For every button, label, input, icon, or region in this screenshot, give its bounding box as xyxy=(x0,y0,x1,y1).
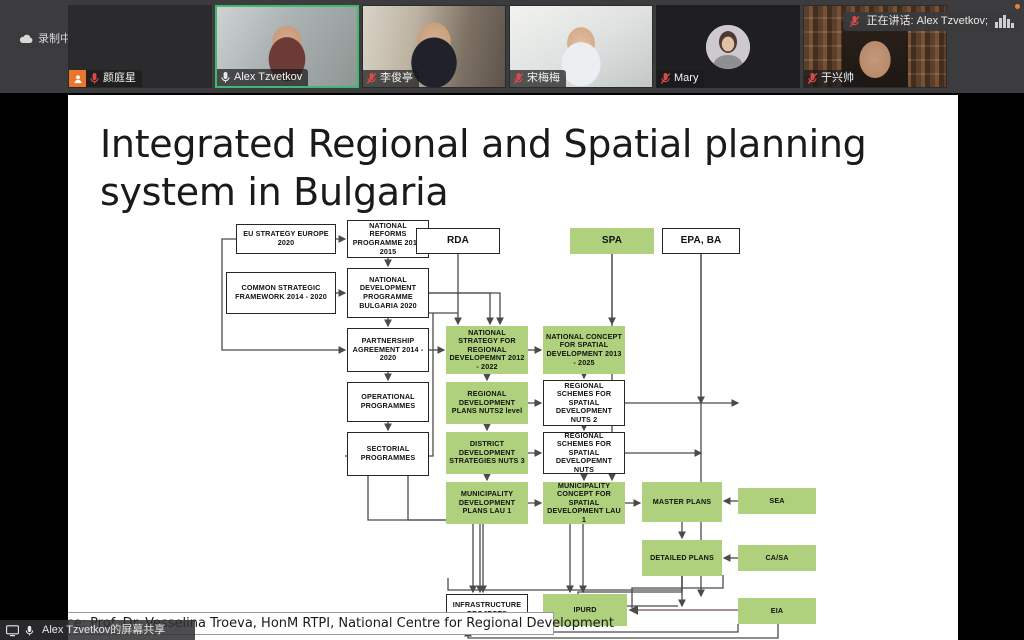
mic-muted-icon xyxy=(366,72,377,85)
active-speaker-label: 正在讲话: Alex Tzvetkov; xyxy=(867,15,988,28)
mic-on-icon xyxy=(220,71,231,84)
mic-muted-icon xyxy=(849,15,860,28)
cloud-record-icon xyxy=(19,34,33,44)
flowchart-node-sp: SECTORIAL PROGRAMMES xyxy=(347,432,429,476)
flowchart-node-eu: EU STRATEGY EUROPE 2020 xyxy=(236,224,336,254)
video-tile-0[interactable]: 颜庭星 xyxy=(68,5,212,88)
participant-name-0: 颜庭星 xyxy=(103,72,136,85)
mic-muted-icon xyxy=(660,72,671,85)
status-dot xyxy=(1015,4,1020,9)
flowchart-node-nsrd: NATIONAL STRATEGY FOR REGIONAL DEVELOPEM… xyxy=(446,326,528,374)
host-badge-icon xyxy=(69,70,86,87)
video-tile-3[interactable]: 宋梅梅 xyxy=(509,5,653,88)
participant-name-3: 宋梅梅 xyxy=(527,72,560,85)
participant-namebar-5: 于兴帅 xyxy=(804,70,860,87)
participant-name-1: Alex Tzvetkov xyxy=(234,71,302,84)
zoom-meeting-window: 录制中 颜庭星 xyxy=(0,0,1024,640)
planning-system-flowchart: EU STRATEGY EUROPE 2020COMMON STRATEGIC … xyxy=(218,220,838,610)
page-title: Integrated Regional and Spatial planning… xyxy=(100,120,900,216)
flowchart-node-rss3: REGIONAL SCHEMES FOR SPATIAL DEVELOPEMNT… xyxy=(543,432,625,474)
participant-filmstrip: 录制中 颜庭星 xyxy=(0,0,1024,93)
flowchart-node-casa: CA/SA xyxy=(738,545,816,571)
flowchart-node-epa: EPA, BA xyxy=(662,228,740,254)
flowchart-node-detailed: DETAILED PLANS xyxy=(642,540,722,576)
active-speaker-toast: 正在讲话: Alex Tzvetkov; xyxy=(843,12,1020,31)
screen-share-label: Alex Tzvetkov的屏幕共享 xyxy=(42,624,165,637)
participant-name-5: 于兴帅 xyxy=(821,72,854,85)
video-tile-4[interactable]: Mary xyxy=(656,5,800,88)
shared-slide: Integrated Regional and Spatial planning… xyxy=(68,95,958,640)
flowchart-node-dds: DISTRICT DEVELOPMENT STRATEGIES NUTS 3 xyxy=(446,432,528,474)
participant-namebar-0: 颜庭星 xyxy=(86,70,142,87)
participant-name-2: 李俊亭 xyxy=(380,72,413,85)
flowchart-node-mdp: MUNICIPALITY DEVELOPMENT PLANS LAU 1 xyxy=(446,482,528,524)
mic-on-icon xyxy=(89,72,100,85)
flowchart-node-rda: RDA xyxy=(416,228,500,254)
flowchart-node-rdp: REGIONAL DEVELOPMENT PLANS NUTS2 level xyxy=(446,382,528,424)
flowchart-node-ndp: NATIONAL DEVELOPMENT PROGRAMME BULGARIA … xyxy=(347,268,429,318)
flowchart-node-eia: EIA xyxy=(738,598,816,624)
left-letterbox xyxy=(0,93,68,640)
mic-on-icon xyxy=(24,624,37,636)
mic-muted-icon xyxy=(513,72,524,85)
right-letterbox xyxy=(958,93,1024,640)
participant-namebar-1: Alex Tzvetkov xyxy=(217,69,308,86)
participant-namebar-3: 宋梅梅 xyxy=(510,70,566,87)
participant-name-4: Mary xyxy=(674,72,698,85)
flowchart-node-pa: PARTNERSHIP AGREEMENT 2014 - 2020 xyxy=(347,328,429,372)
participant-namebar-2: 李俊亭 xyxy=(363,70,419,87)
audio-wave-icon xyxy=(995,15,1014,28)
flowchart-node-mcsd: MUNICIPALITY CONCEPT FOR SPATIAL DEVELOP… xyxy=(543,482,625,524)
flowchart-node-ncsd: NATIONAL CONCEPT FOR SPATIAL DEVELOPMENT… xyxy=(543,326,625,374)
participant-namebar-4: Mary xyxy=(657,70,704,87)
flowchart-node-op: OPERATIONAL PROGRAMMES xyxy=(347,382,429,422)
flowchart-node-spa: SPA xyxy=(570,228,654,254)
video-tile-2[interactable]: 李俊亭 xyxy=(362,5,506,88)
screen-share-bar[interactable]: Alex Tzvetkov的屏幕共享 xyxy=(0,620,195,640)
video-tiles: 颜庭星 Alex Tzvetkov xyxy=(68,5,947,88)
flowchart-node-master: MASTER PLANS xyxy=(642,482,722,522)
avatar xyxy=(706,25,750,69)
mic-muted-icon xyxy=(807,72,818,85)
video-tile-1[interactable]: Alex Tzvetkov xyxy=(215,5,359,88)
flowchart-node-sea: SEA xyxy=(738,488,816,514)
screen-share-icon xyxy=(6,624,19,636)
flowchart-node-rss2: REGIONAL SCHEMES FOR SPATIAL DEVELOPMENT… xyxy=(543,380,625,426)
recording-label: 录制中 xyxy=(38,33,71,45)
flowchart-node-csf: COMMON STRATEGIC FRAMEWORK 2014 - 2020 xyxy=(226,272,336,314)
